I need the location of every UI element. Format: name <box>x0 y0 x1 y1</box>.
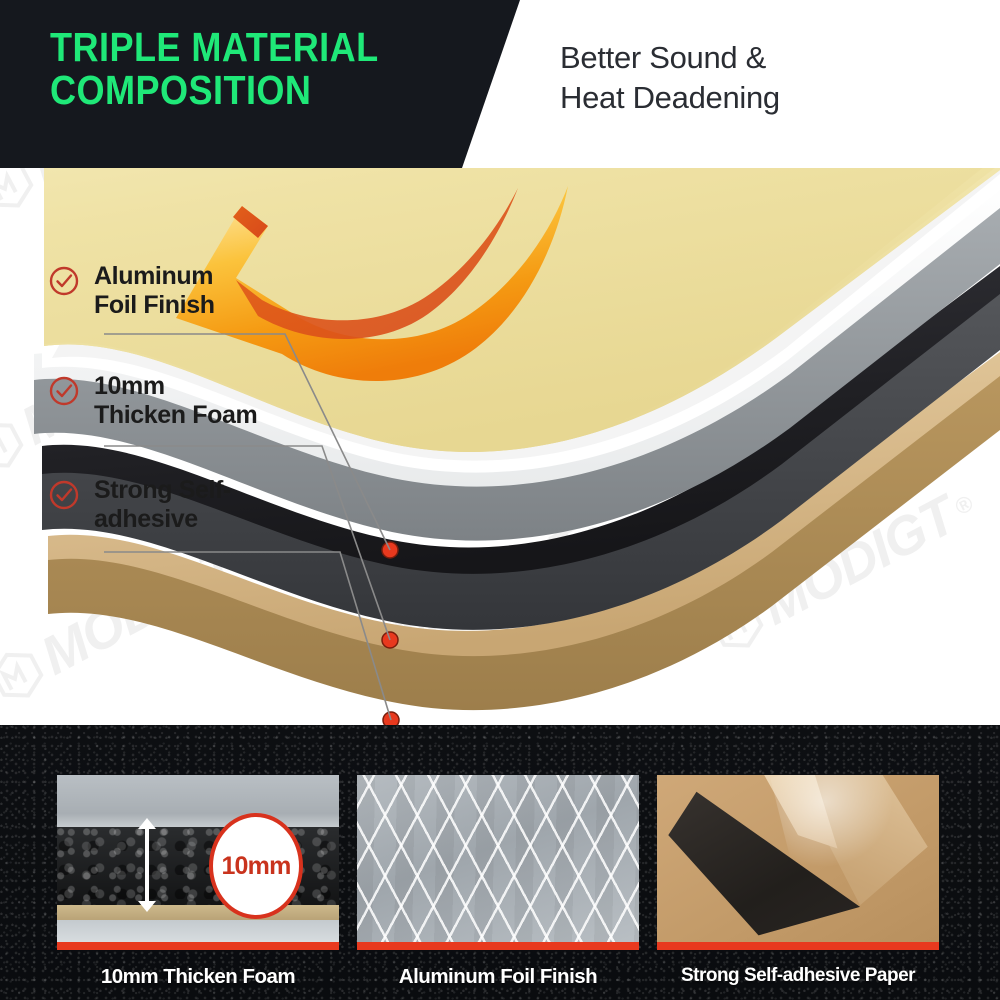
page-subtitle: Better Sound & Heat Deadening <box>560 38 980 117</box>
thickness-arrow-icon <box>145 828 149 901</box>
feature-item-thicken-foam: 10mmThicken Foam <box>48 372 257 430</box>
panel-caption: 10mm Thicken Foam <box>48 965 348 989</box>
page-subtitle-line1: Better Sound & <box>560 40 766 75</box>
check-circle-icon <box>48 265 80 297</box>
panel-accent-bar <box>57 942 339 950</box>
foam-photo-base <box>57 920 339 942</box>
panel-accent-bar <box>657 942 939 950</box>
header-banner: TRIPLE MATERIAL COMPOSITION Better Sound… <box>0 0 1000 168</box>
page-title-line2: COMPOSITION <box>50 69 446 112</box>
foam-photo-adhesive <box>57 905 339 920</box>
foil-mesh-pattern <box>357 775 639 942</box>
feature-label: AluminumFoil Finish <box>94 262 215 320</box>
feature-list: AluminumFoil Finish 10mmThicken Foam Str… <box>0 168 400 725</box>
panel-caption: Aluminum Foil Finish <box>348 965 648 989</box>
adhesive-photo <box>657 775 939 942</box>
feature-label-line1: 10mm <box>94 372 165 400</box>
foil-panel[interactable]: Aluminum Foil Finish <box>357 775 639 989</box>
feature-label-line2: Foil Finish <box>94 291 215 319</box>
feature-item-aluminum-foil: AluminumFoil Finish <box>48 262 215 320</box>
foam-photo: 10mm <box>57 775 339 942</box>
foam-panel[interactable]: 10mm 10mm Thicken Foam <box>57 775 339 989</box>
check-circle-icon <box>48 479 80 511</box>
feature-label: Strong Self-adhesive <box>94 476 231 534</box>
panel-caption: Strong Self-adhesive Paper <box>648 965 948 987</box>
page-subtitle-line2: Heat Deadening <box>560 78 980 118</box>
infographic-page: MODIGT® MODIGT® MODIGT® MODIGT® MODI <box>0 0 1000 1000</box>
feature-label-line1: Strong Self- <box>94 476 231 504</box>
composition-diagram-section: AluminumFoil Finish 10mmThicken Foam Str… <box>0 168 1000 725</box>
panel-accent-bar <box>357 942 639 950</box>
adhesive-panel[interactable]: Strong Self-adhesive Paper <box>657 775 939 987</box>
feature-label-line2: adhesive <box>94 505 198 533</box>
feature-item-self-adhesive: Strong Self-adhesive <box>48 476 231 534</box>
feature-label: 10mmThicken Foam <box>94 372 257 430</box>
thickness-badge: 10mm <box>209 813 303 919</box>
material-gallery: 10mm 10mm Thicken Foam Aluminum Foil Fin… <box>0 725 1000 1000</box>
check-circle-icon <box>48 375 80 407</box>
page-title: TRIPLE MATERIAL COMPOSITION <box>50 26 446 111</box>
feature-label-line1: Aluminum <box>94 262 213 290</box>
feature-label-line2: Thicken Foam <box>94 401 257 429</box>
page-title-line1: TRIPLE MATERIAL <box>50 24 379 70</box>
foam-photo-top-skin <box>57 775 339 830</box>
foil-photo <box>357 775 639 942</box>
